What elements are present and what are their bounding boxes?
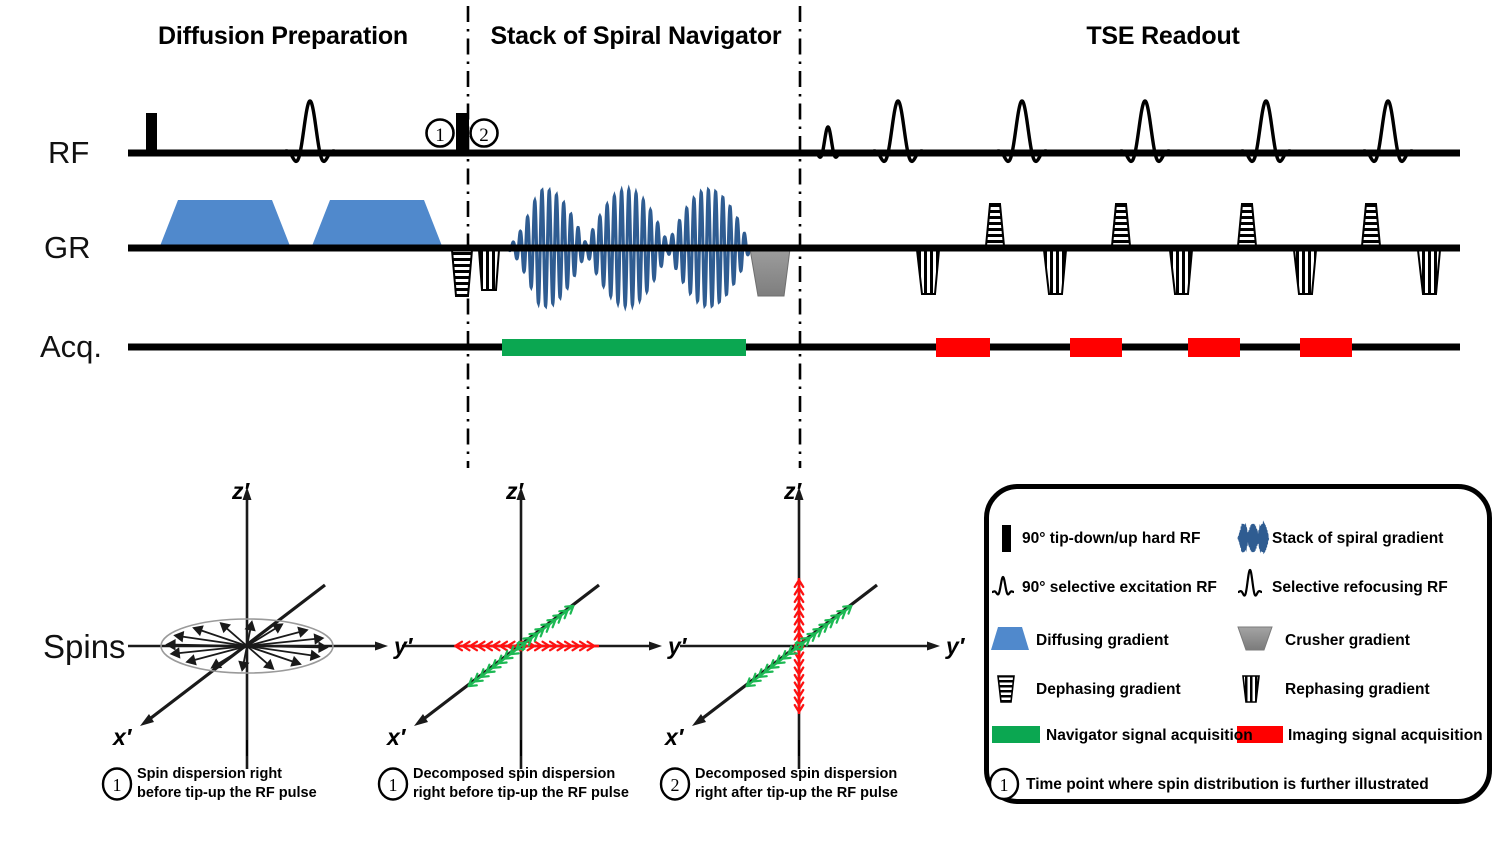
marker-2-label: 2 [479, 125, 489, 146]
dephasing-gradient-1 [986, 204, 1004, 246]
imaging-acquisition-2 [1070, 338, 1122, 357]
rephasing-gradient-3 [1170, 250, 1192, 294]
crusher-gradient [750, 249, 790, 296]
imaging-acquisition-4 [1300, 338, 1352, 357]
axis-label-x-1: x′ [113, 724, 131, 751]
caption-spin-diagram-1: Spin dispersion right before tip-up the … [137, 765, 337, 803]
diffusing-gradient-2 [312, 200, 442, 246]
rephasing-gradient-4 [1294, 250, 1316, 294]
hard-pulse-tip-down [146, 113, 157, 154]
legend-label-time-point: Time point where spin distribution is fu… [1026, 776, 1429, 794]
dephasing-gradient-2 [1112, 204, 1130, 246]
dephasing-gradient-3 [1238, 204, 1256, 246]
figure-root: Diffusion Preparation Stack of Spiral Na… [0, 0, 1500, 844]
rephasing-gradient-2 [1044, 250, 1066, 294]
dephasing-gradient-nav [452, 250, 472, 296]
caption-1-line-2: before tip-up the RF pulse [137, 784, 337, 803]
caption-spin-diagram-2: Decomposed spin dispersion right before … [413, 765, 663, 803]
imaging-acquisition-1 [936, 338, 990, 357]
legend-label-hard-rf: 90° tip-down/up hard RF [1022, 530, 1200, 548]
legend-label-diffusing-gradient: Diffusing gradient [1036, 632, 1169, 650]
caption-2-line-1: Decomposed spin dispersion [413, 765, 663, 784]
spin-diagram-3 [680, 487, 940, 769]
spin-diagram-2 [402, 487, 662, 769]
rephasing-gradient-5 [1418, 250, 1440, 294]
axis-label-x-3: x′ [665, 724, 683, 751]
legend-label-dephasing-gradient: Dephasing gradient [1036, 681, 1181, 699]
caption-3-line-1: Decomposed spin dispersion [695, 765, 945, 784]
imaging-acquisition-3 [1188, 338, 1240, 357]
dephasing-gradient-4 [1362, 204, 1380, 246]
legend-label-selective-excitation-rf: 90° selective excitation RF [1022, 579, 1217, 597]
axis-label-y-3: y′ [946, 633, 964, 660]
legend-label-rephasing-gradient: Rephasing gradient [1285, 681, 1430, 699]
legend-label-crusher-gradient: Crusher gradient [1285, 632, 1410, 650]
spin-diagram-1 [128, 487, 388, 769]
axis-label-x-2: x′ [387, 724, 405, 751]
legend-label-spiral-gradient: Stack of spiral gradient [1272, 530, 1443, 548]
axis-label-y-2: y′ [668, 633, 686, 660]
caption-3-line-2: right after tip-up the RF pulse [695, 784, 945, 803]
time-point-marker-1: 1 [427, 120, 454, 147]
legend-label-selective-refocusing-rf: Selective refocusing RF [1272, 579, 1448, 597]
time-point-marker-2: 2 [471, 120, 498, 147]
caption-spin-diagram-3: Decomposed spin dispersion right after t… [695, 765, 945, 803]
navigator-acquisition [502, 339, 746, 356]
rephasing-gradient-1 [917, 250, 939, 294]
caption-2-line-2: right before tip-up the RF pulse [413, 784, 663, 803]
axis-label-z-1: z′ [232, 478, 249, 505]
rephasing-gradient-nav [479, 250, 499, 290]
hard-pulse-tip-up [456, 113, 469, 154]
marker-1-label: 1 [435, 125, 445, 146]
legend-label-navigator-acq: Navigator signal acquisition [1046, 727, 1253, 745]
legend-label-imaging-acq: Imaging signal acquisition [1288, 727, 1483, 745]
caption-1-line-1: Spin dispersion right [137, 765, 337, 784]
axis-label-z-3: z′ [784, 478, 801, 505]
spin-arrows-red-y [455, 642, 599, 651]
axis-label-y-1: y′ [394, 633, 412, 660]
axis-label-z-2: z′ [506, 478, 523, 505]
diffusing-gradient-1 [160, 200, 290, 246]
